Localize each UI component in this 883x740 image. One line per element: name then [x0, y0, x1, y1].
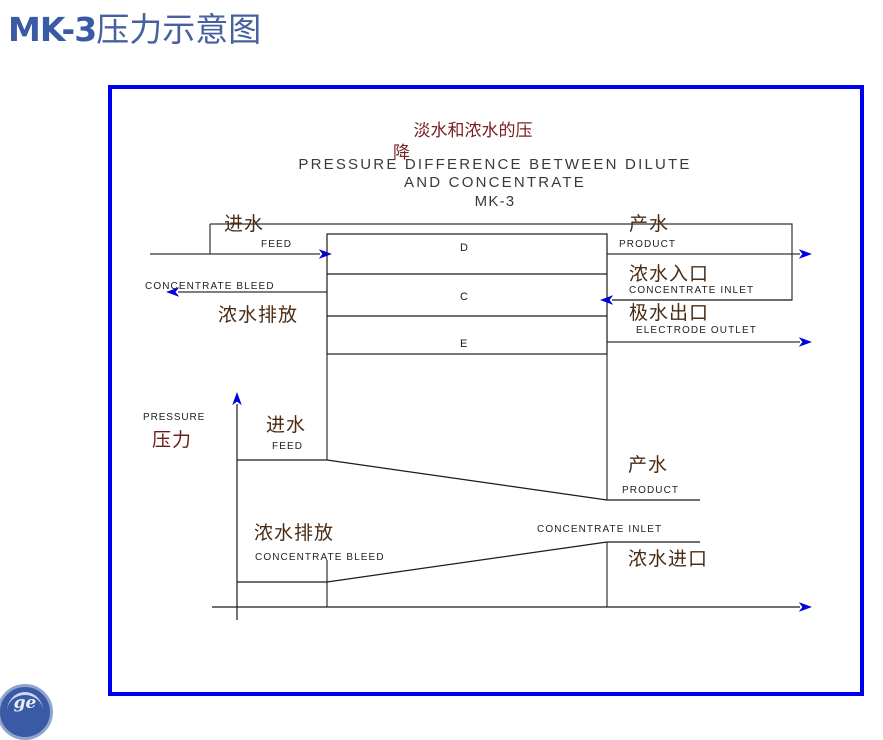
feed-label-en: FEED	[261, 239, 292, 250]
stack-cell-c-label: C	[460, 291, 469, 303]
y-axis-label-cn: 压力	[152, 425, 192, 452]
header-chinese-line1: 淡水和浓水的压	[393, 120, 553, 142]
page-title: MK-3压力示意图	[8, 8, 261, 52]
electrode-outlet-label-cn: 极水出口	[629, 298, 709, 325]
page-title-prefix: MK-3	[8, 10, 96, 49]
stack-cell-d-label: D	[460, 242, 469, 254]
stack-cell-e-label: E	[460, 338, 468, 350]
product-label-cn: 产水	[629, 209, 669, 236]
concentrate-inlet-label-cn: 浓水入口	[629, 259, 709, 286]
chart-concentrate-bleed-label-en: CONCENTRATE BLEED	[255, 552, 385, 563]
concentrate-inlet-label-en: CONCENTRATE INLET	[629, 285, 754, 296]
y-axis-label-en: PRESSURE	[143, 412, 205, 423]
logo-monogram: ge	[0, 693, 50, 713]
chart-product-label-en: PRODUCT	[622, 485, 679, 496]
page-title-chinese: 压力示意图	[96, 10, 261, 49]
header-english-line2: AND CONCENTRATE	[235, 174, 755, 191]
feed-label-cn: 进水	[224, 209, 264, 236]
header-english-line3: MK-3	[235, 193, 755, 210]
concentrate-bleed-label-en: CONCENTRATE BLEED	[145, 281, 275, 292]
chart-feed-label-cn: 进水	[266, 410, 306, 437]
chart-feed-label-en: FEED	[272, 441, 303, 452]
chart-concentrate-inlet-label-en: CONCENTRATE INLET	[537, 524, 662, 535]
concentrate-bleed-label-cn: 浓水排放	[218, 300, 298, 327]
product-label-en: PRODUCT	[619, 239, 676, 250]
electrode-outlet-label-en: ELECTRODE OUTLET	[636, 325, 757, 336]
chart-concentrate-inlet-label-cn: 浓水进口	[628, 544, 708, 571]
company-logo: ge	[0, 684, 53, 740]
chart-concentrate-bleed-label-cn: 浓水排放	[254, 518, 334, 545]
slide-canvas: MK-3压力示意图	[0, 0, 883, 712]
header-english-line1: PRESSURE DIFFERENCE BETWEEN DILUTE	[235, 156, 755, 173]
chart-product-label-cn: 产水	[628, 450, 668, 477]
